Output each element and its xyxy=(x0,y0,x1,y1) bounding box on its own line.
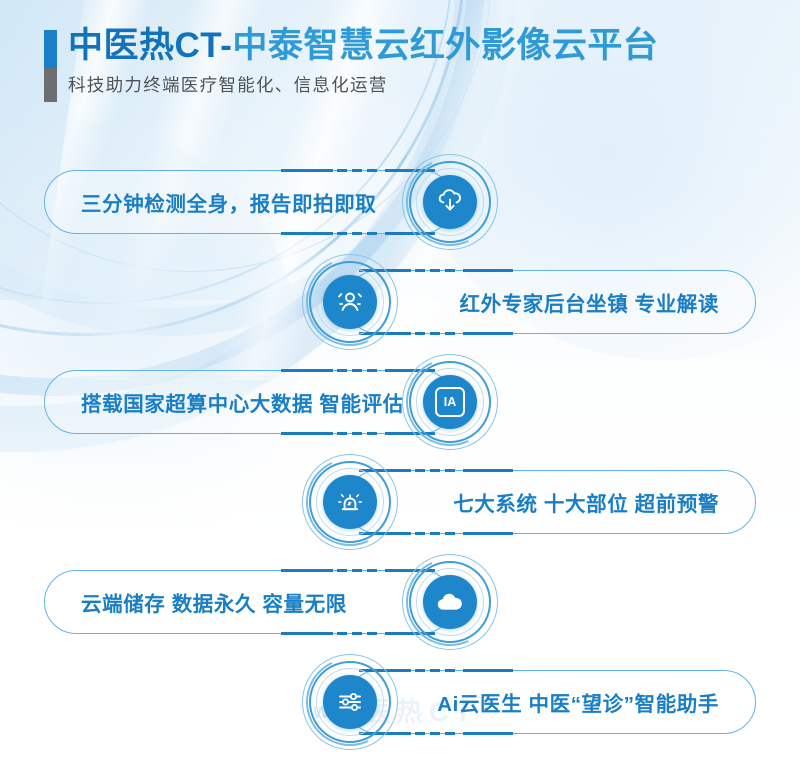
card-dashes-bottom xyxy=(415,332,455,335)
card-dashes-bottom xyxy=(415,732,455,735)
feature-label: Ai云医生 中医“望诊”智能助手 xyxy=(351,687,719,717)
feature-card[interactable]: Ai云医生 中医“望诊”智能助手 xyxy=(346,670,756,734)
feature-label: 七大系统 十大部位 超前预警 xyxy=(367,487,719,517)
header-text-group: 中医热CT-中泰智慧云红外影像云平台 科技助力终端医疗智能化、信息化运营 xyxy=(68,26,658,97)
sliders-icon xyxy=(323,675,377,729)
page-subtitle: 科技助力终端医疗智能化、信息化运营 xyxy=(68,72,658,97)
card-edge-top-2 xyxy=(463,469,513,472)
page-title-secondary: 中泰智慧云红外影像云平台 xyxy=(232,26,658,65)
feature-row: Ai云医生 中医“望诊”智能助手 xyxy=(0,652,800,752)
card-dashes-bottom xyxy=(415,532,455,535)
card-dashes-top xyxy=(415,269,455,272)
cloud-download-icon xyxy=(423,175,477,229)
feature-label: 云端储存 数据永久 容量无限 xyxy=(81,587,433,617)
page-header: 中医热CT-中泰智慧云红外影像云平台 科技助力终端医疗智能化、信息化运营 xyxy=(44,26,658,102)
card-edge-top xyxy=(281,569,333,572)
feature-card[interactable]: 云端储存 数据永久 容量无限 xyxy=(44,570,454,634)
alarm-beacon-icon xyxy=(323,475,377,529)
card-dashes-bottom xyxy=(337,432,377,435)
feature-row: 七大系统 十大部位 超前预警 xyxy=(0,452,800,552)
ai-chip-label: IA xyxy=(435,387,465,417)
card-edge-top xyxy=(281,369,333,372)
feature-label: 红外专家后台坐镇 专业解读 xyxy=(374,287,720,317)
feature-icon-badge[interactable]: IA xyxy=(400,352,500,452)
card-edge-top xyxy=(281,169,333,172)
feature-icon-badge[interactable] xyxy=(400,552,500,652)
card-edge-bottom-2 xyxy=(463,532,513,535)
feature-icon-badge[interactable] xyxy=(300,252,400,352)
feature-card[interactable]: 红外专家后台坐镇 专业解读 xyxy=(346,270,756,334)
page-title-primary: 中医热CT- xyxy=(68,26,232,65)
expert-user-icon xyxy=(323,275,377,329)
feature-icon-badge[interactable] xyxy=(300,652,400,752)
feature-row: 三分钟检测全身，报告即拍即取 xyxy=(0,152,800,252)
card-dashes-top xyxy=(337,569,377,572)
card-edge-bottom-2 xyxy=(463,332,513,335)
feature-card[interactable]: 三分钟检测全身，报告即拍即取 xyxy=(44,170,454,234)
feature-row: 云端储存 数据永久 容量无限 xyxy=(0,552,800,652)
feature-icon-badge[interactable] xyxy=(400,152,500,252)
promo-poster: 中医热CT WWW 中医热CT-中泰智慧云红外影像云平台 科技助力终端医疗智能化… xyxy=(0,0,800,758)
card-dashes-bottom xyxy=(337,232,377,235)
cloud-icon xyxy=(423,575,477,629)
feature-card[interactable]: 搭载国家超算中心大数据 智能评估 xyxy=(44,370,454,434)
card-dashes-bottom xyxy=(337,632,377,635)
feature-card[interactable]: 七大系统 十大部位 超前预警 xyxy=(346,470,756,534)
page-title: 中医热CT-中泰智慧云红外影像云平台 xyxy=(68,26,658,66)
card-dashes-top xyxy=(415,669,455,672)
card-edge-bottom xyxy=(281,232,333,235)
header-accent-bar xyxy=(44,30,57,102)
card-edge-bottom-2 xyxy=(463,732,513,735)
card-edge-bottom xyxy=(281,632,333,635)
ai-chip-icon: IA xyxy=(423,375,477,429)
accent-bar-top xyxy=(44,30,57,68)
card-dashes-top xyxy=(415,469,455,472)
card-edge-top-2 xyxy=(463,669,513,672)
feature-row: 搭载国家超算中心大数据 智能评估 IA xyxy=(0,352,800,452)
card-dashes-top xyxy=(337,369,377,372)
card-edge-bottom xyxy=(281,432,333,435)
feature-row: 红外专家后台坐镇 专业解读 xyxy=(0,252,800,352)
feature-list: 三分钟检测全身，报告即拍即取 xyxy=(0,152,800,752)
feature-icon-badge[interactable] xyxy=(300,452,400,552)
accent-bar-bottom xyxy=(44,68,57,102)
card-edge-top-2 xyxy=(463,269,513,272)
card-dashes-top xyxy=(337,169,377,172)
